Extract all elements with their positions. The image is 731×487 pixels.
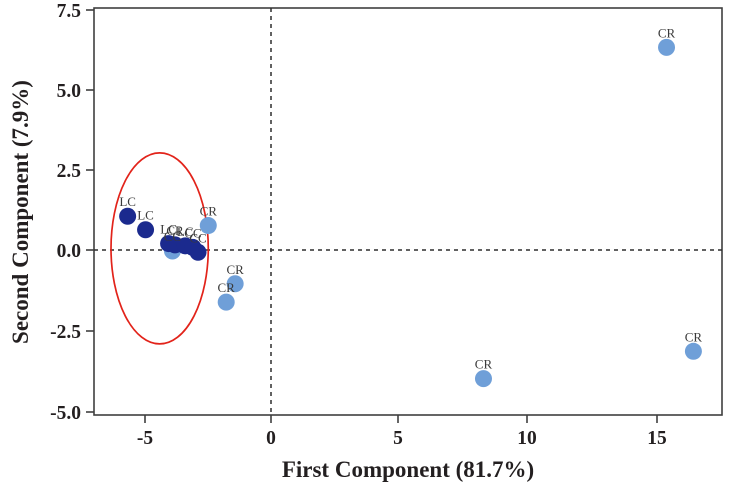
point-label-light-blue-group-3: CR <box>218 280 236 295</box>
point-label-dark-navy-group-6: CC <box>189 230 206 245</box>
y-tick-label-1: 5.0 <box>57 81 81 102</box>
plot-canvas: 7.5 5.0 2.5 0.0 -2.5 -5.0 -5 0 5 10 15 F… <box>0 0 731 487</box>
data-point-light-blue-group-4[interactable] <box>475 370 492 387</box>
data-point-light-blue-group-6[interactable] <box>658 39 675 56</box>
point-label-light-blue-group-6: CR <box>658 25 676 40</box>
y-axis-ticks <box>86 10 94 412</box>
y-tick-label-3: 0.0 <box>57 241 81 262</box>
y-axis-title: Second Component (7.9%) <box>8 80 33 344</box>
point-label-dark-navy-group-0: LC <box>119 194 136 209</box>
point-label-light-blue-group-2: CR <box>226 262 244 277</box>
y-tick-label-5: -5.0 <box>50 403 81 424</box>
point-label-light-blue-group-5: CR <box>685 329 703 344</box>
plot-frame <box>94 8 722 415</box>
point-label-dark-navy-group-1: LC <box>137 208 154 223</box>
point-label-light-blue-group-4: CR <box>475 357 493 372</box>
x-tick-label-2: 5 <box>393 428 403 449</box>
x-tick-label-3: 10 <box>517 428 537 449</box>
y-tick-label-4: -2.5 <box>50 322 81 343</box>
data-points-layer: CRCCCRCRCRCRCRLCLCLCCRLCCCCC <box>119 25 702 387</box>
data-point-light-blue-group-5[interactable] <box>685 343 702 360</box>
data-point-dark-navy-group-1[interactable] <box>137 221 154 238</box>
y-tick-label-2: 2.5 <box>57 161 82 182</box>
x-tick-label-1: 0 <box>266 428 276 449</box>
data-point-light-blue-group-3[interactable] <box>218 294 235 311</box>
x-axis-title: First Component (81.7%) <box>282 457 534 482</box>
data-point-dark-navy-group-0[interactable] <box>119 208 136 225</box>
point-label-light-blue-group-0: CR <box>200 204 218 219</box>
data-point-dark-navy-group-6[interactable] <box>190 244 207 261</box>
x-tick-label-4: 15 <box>647 428 667 449</box>
y-tick-label-0: 7.5 <box>57 1 82 22</box>
x-axis-ticks <box>145 415 657 423</box>
x-tick-label-0: -5 <box>137 428 153 449</box>
pca-score-plot: 7.5 5.0 2.5 0.0 -2.5 -5.0 -5 0 5 10 15 F… <box>0 0 731 487</box>
